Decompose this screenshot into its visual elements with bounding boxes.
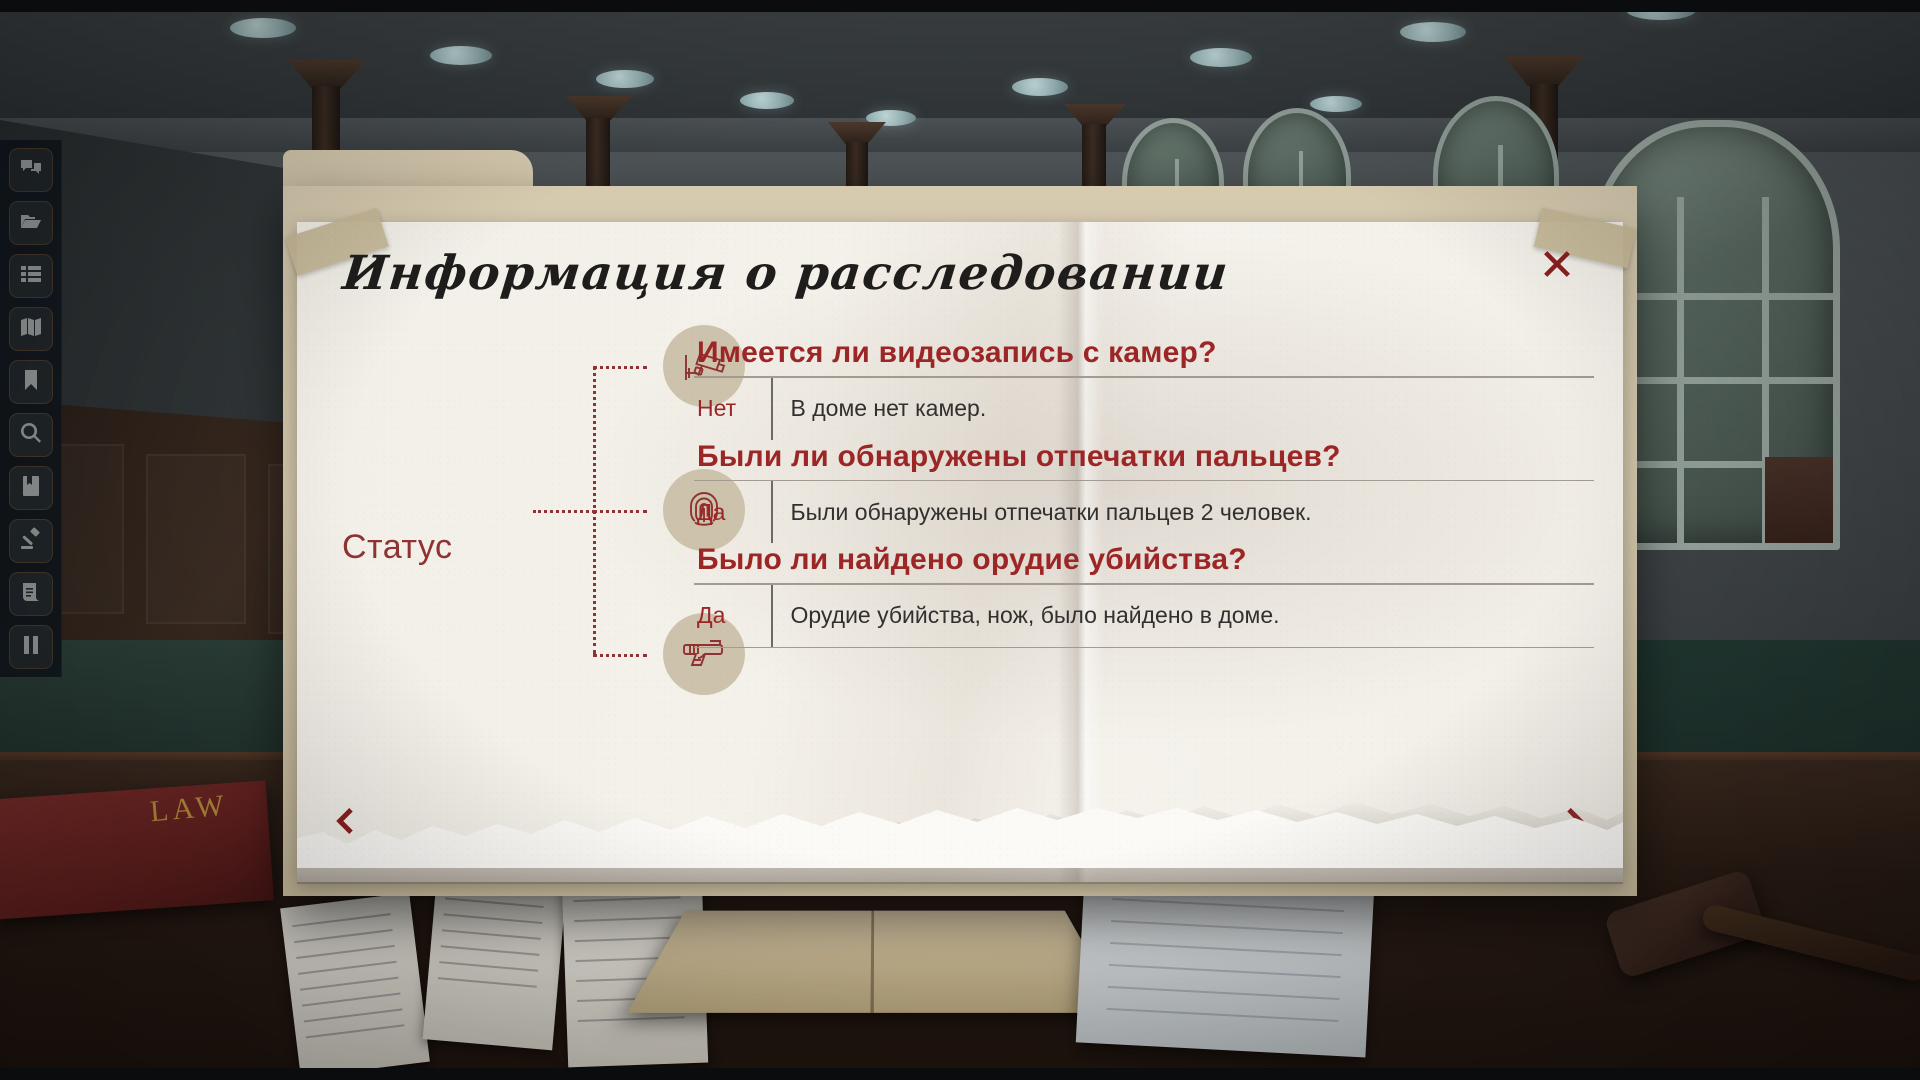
qa-row: Было ли найдено орудие убийства? Да Оруд… — [694, 543, 1594, 648]
notepad — [1076, 873, 1374, 1058]
folder-icon — [19, 209, 43, 238]
dialogue-icon — [19, 156, 43, 185]
open-book — [627, 911, 1123, 1013]
question-text: Имеется ли видеозапись с камер? — [694, 336, 1594, 370]
sidebar-item-bookmark[interactable] — [9, 360, 53, 404]
ceiling-light — [1310, 96, 1362, 112]
search-icon — [19, 421, 43, 450]
sidebar-item-map[interactable] — [9, 307, 53, 351]
page-title: Информация о расследовании — [340, 246, 1231, 301]
sidebar-item-dialogue[interactable] — [9, 148, 53, 192]
qa-rows: Имеется ли видеозапись с камер? Нет В до… — [694, 336, 1594, 648]
prev-page-button[interactable] — [323, 800, 369, 846]
qa-row: Были ли обнаружены отпечатки пальцев? Да… — [694, 440, 1594, 544]
status-tree-connector — [529, 350, 659, 670]
answer-value: Нет — [694, 395, 771, 422]
next-page-button[interactable] — [1551, 800, 1597, 846]
question-text: Были ли обнаружены отпечатки пальцев? — [694, 440, 1594, 474]
letterbox-top — [0, 0, 1920, 12]
list-icon — [19, 262, 43, 291]
sidebar-item-verdict[interactable] — [9, 519, 53, 563]
close-icon — [1540, 247, 1574, 286]
sidebar-item-documents[interactable] — [9, 572, 53, 616]
paper-sheet: Информация о расследовании Статус — [297, 222, 1623, 882]
pause-icon — [19, 633, 43, 662]
ceiling-light — [1012, 78, 1068, 96]
letterbox-bottom — [0, 1068, 1920, 1080]
ceiling-light — [740, 92, 794, 109]
left-sidebar — [0, 140, 62, 677]
journal-icon — [19, 474, 43, 503]
law-book-label: LAW — [149, 789, 230, 830]
answer-text: В доме нет камер. — [773, 395, 987, 422]
law-book — [0, 780, 274, 919]
answer-value: Да — [694, 602, 771, 629]
answer-row: Да Были обнаружены отпечатки пальцев 2 ч… — [694, 481, 1594, 543]
ceiling-light — [596, 70, 654, 88]
sidebar-item-list[interactable] — [9, 254, 53, 298]
chevron-right-icon — [1559, 806, 1589, 841]
answer-value: Да — [694, 499, 771, 526]
qa-row: Имеется ли видеозапись с камер? Нет В до… — [694, 336, 1594, 440]
map-icon — [19, 315, 43, 344]
ceiling-light — [1190, 48, 1252, 67]
bookmark-icon — [19, 368, 43, 397]
ceiling-light — [1400, 22, 1466, 42]
answer-text: Были обнаружены отпечатки пальцев 2 чело… — [773, 499, 1312, 526]
gavel-icon — [19, 527, 43, 556]
investigation-dossier: Информация о расследовании Статус — [283, 186, 1637, 896]
sidebar-item-search[interactable] — [9, 413, 53, 457]
status-label: Статус — [342, 528, 452, 567]
sidebar-item-journal[interactable] — [9, 466, 53, 510]
row-bottom-rule — [694, 647, 1594, 649]
ceiling-front-edge — [0, 118, 1920, 152]
desk-paper — [280, 893, 430, 1078]
close-button[interactable] — [1537, 246, 1577, 286]
page-indicator: 5/6 — [937, 818, 984, 852]
sidebar-item-case-files[interactable] — [9, 201, 53, 245]
game-screen: LAW — [0, 0, 1920, 1080]
ceiling-light — [430, 46, 492, 65]
answer-row: Нет В доме нет камер. — [694, 378, 1594, 440]
chevron-left-icon — [331, 806, 361, 841]
scroll-icon — [19, 580, 43, 609]
answer-row: Да Орудие убийства, нож, было найдено в … — [694, 585, 1594, 647]
ceiling-light — [230, 18, 296, 38]
question-text: Было ли найдено орудие убийства? — [694, 543, 1594, 577]
sidebar-item-pause[interactable] — [9, 625, 53, 669]
answer-text: Орудие убийства, нож, было найдено в дом… — [773, 602, 1280, 629]
